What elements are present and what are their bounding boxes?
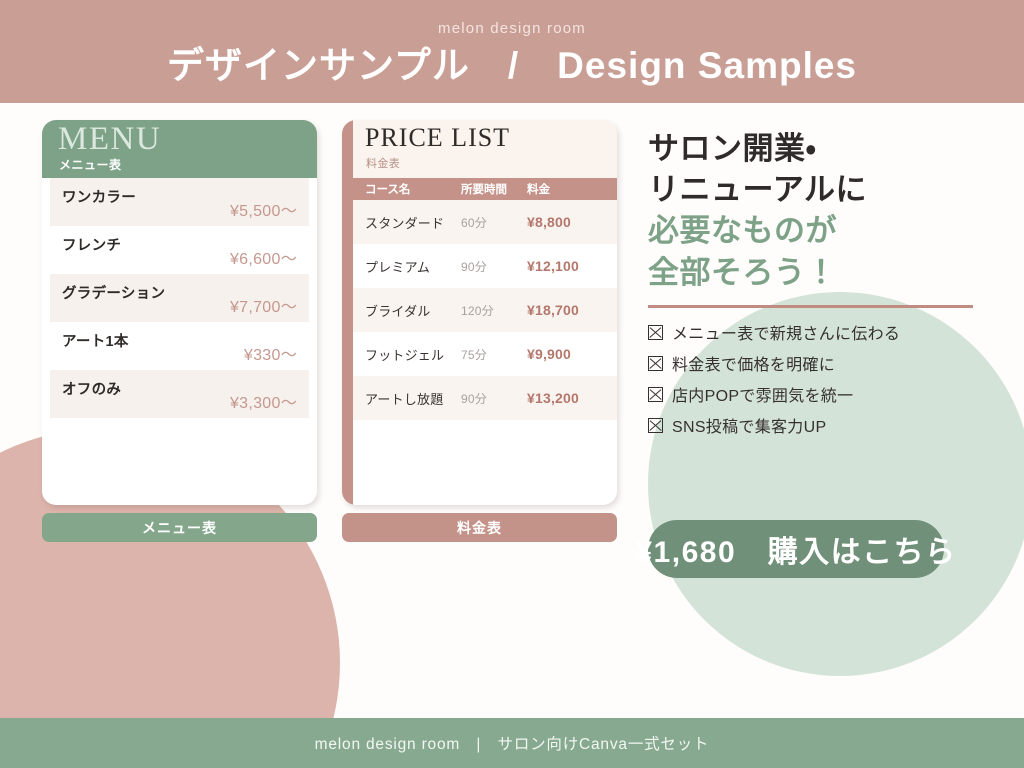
price-course-fee: ¥13,200 [527,390,605,406]
checkbox-cross-icon [648,387,663,402]
benefit-list: メニュー表で新規さんに伝わる 料金表で価格を明確に 店内POPで雰囲気を統一 S… [648,317,1024,441]
price-course-fee: ¥12,100 [527,258,605,274]
column-header-name: コース名 [365,181,461,197]
price-card-accent-bar [342,120,353,505]
list-item: 料金表で価格を明確に [648,348,1024,379]
menu-title-jp: メニュー表 [59,156,122,173]
menu-item-price: ¥330〜 [244,341,297,365]
brand-kicker: melon design room [438,21,586,36]
benefit-label: メニュー表で新規さんに伝わる [672,320,900,344]
menu-item-price: ¥7,700〜 [230,293,297,317]
price-course-name: アートし放題 [365,389,461,408]
headline-line-2: リニューアルに [648,169,1024,210]
menu-item-name: グラデーション [62,282,165,303]
price-row-list: スタンダード 60分 ¥8,800 プレミアム 90分 ¥12,100 ブライダ… [353,200,617,420]
price-row: スタンダード 60分 ¥8,800 [353,200,617,244]
purchase-cta-label: ¥1,680 購入はこちら [635,527,956,571]
checkbox-cross-icon [648,418,663,433]
price-course-name: スタンダード [365,213,461,232]
menu-item-price: ¥3,300〜 [230,389,297,413]
list-item: メニュー表で新規さんに伝わる [648,317,1024,348]
menu-row: ワンカラー ¥5,500〜 [50,178,309,226]
purchase-cta-button[interactable]: ¥1,680 購入はこちら [648,520,944,578]
menu-row-list: ワンカラー ¥5,500〜 フレンチ ¥6,600〜 グラデーション ¥7,70… [42,178,317,418]
headline-divider [648,305,973,308]
benefit-label: 料金表で価格を明確に [672,351,835,375]
headline-line-3: 必要なものが [648,210,1024,251]
caption-menu: メニュー表 [42,513,317,542]
headline: サロン開業・ リニューアルに 必要なものが 全部そろう！ [648,128,1024,293]
footer-band: melon design room | サロン向けCanva一式セット [0,718,1024,768]
checkbox-cross-icon [648,356,663,371]
menu-row: オフのみ ¥3,300〜 [50,370,309,418]
menu-card-header: MENU メニュー表 [42,120,317,178]
price-course-time: 90分 [461,258,527,275]
price-title-jp: 料金表 [366,155,400,171]
page-title: デザインサンプル / Design Samples [167,46,857,87]
benefit-label: SNS投稿で集客力UP [672,413,826,437]
price-row: ブライダル 120分 ¥18,700 [353,288,617,332]
menu-item-name: オフのみ [62,378,121,399]
menu-row: グラデーション ¥7,700〜 [50,274,309,322]
price-row: フットジェル 75分 ¥9,900 [353,332,617,376]
price-course-time: 60分 [461,214,527,231]
price-row: アートし放題 90分 ¥13,200 [353,376,617,420]
price-list-card: PRICE LIST 料金表 コース名 所要時間 料金 スタンダード 60分 ¥… [342,120,617,505]
menu-card: MENU メニュー表 ワンカラー ¥5,500〜 フレンチ ¥6,600〜 グラ… [42,120,317,505]
price-column-header: コース名 所要時間 料金 [353,178,617,200]
price-row: プレミアム 90分 ¥12,100 [353,244,617,288]
price-course-time: 90分 [461,390,527,407]
price-course-time: 120分 [461,302,527,319]
menu-row: フレンチ ¥6,600〜 [50,226,309,274]
column-header-time: 所要時間 [461,181,527,197]
menu-title-en: MENU [58,121,161,159]
price-course-name: フットジェル [365,345,461,364]
caption-price: 料金表 [342,513,617,542]
benefit-label: 店内POPで雰囲気を統一 [672,382,853,406]
headline-line-1: サロン開業・ [648,128,1024,169]
column-header-fee: 料金 [527,181,587,197]
price-course-fee: ¥9,900 [527,346,605,362]
list-item: 店内POPで雰囲気を統一 [648,379,1024,410]
price-course-name: プレミアム [365,257,461,276]
headline-line-4: 全部そろう！ [648,252,1024,293]
menu-item-name: ワンカラー [62,186,136,207]
menu-item-price: ¥5,500〜 [230,197,297,221]
price-card-header: PRICE LIST 料金表 [353,120,617,178]
price-title-en: PRICE LIST [365,122,510,153]
price-course-time: 75分 [461,346,527,363]
price-course-name: ブライダル [365,301,461,320]
menu-row: アート1本 ¥330〜 [50,322,309,370]
price-course-fee: ¥18,700 [527,302,605,318]
header-band: melon design room デザインサンプル / Design Samp… [0,0,1024,103]
checkbox-cross-icon [648,325,663,340]
menu-item-price: ¥6,600〜 [230,245,297,269]
right-panel: サロン開業・ リニューアルに 必要なものが 全部そろう！ メニュー表で新規さんに… [648,128,1024,441]
price-course-fee: ¥8,800 [527,214,605,230]
menu-item-name: フレンチ [62,234,121,255]
slide-canvas: melon design room デザインサンプル / Design Samp… [0,0,1024,768]
menu-item-name: アート1本 [62,330,129,351]
list-item: SNS投稿で集客力UP [648,410,1024,441]
footer-text: melon design room | サロン向けCanva一式セット [315,732,710,754]
